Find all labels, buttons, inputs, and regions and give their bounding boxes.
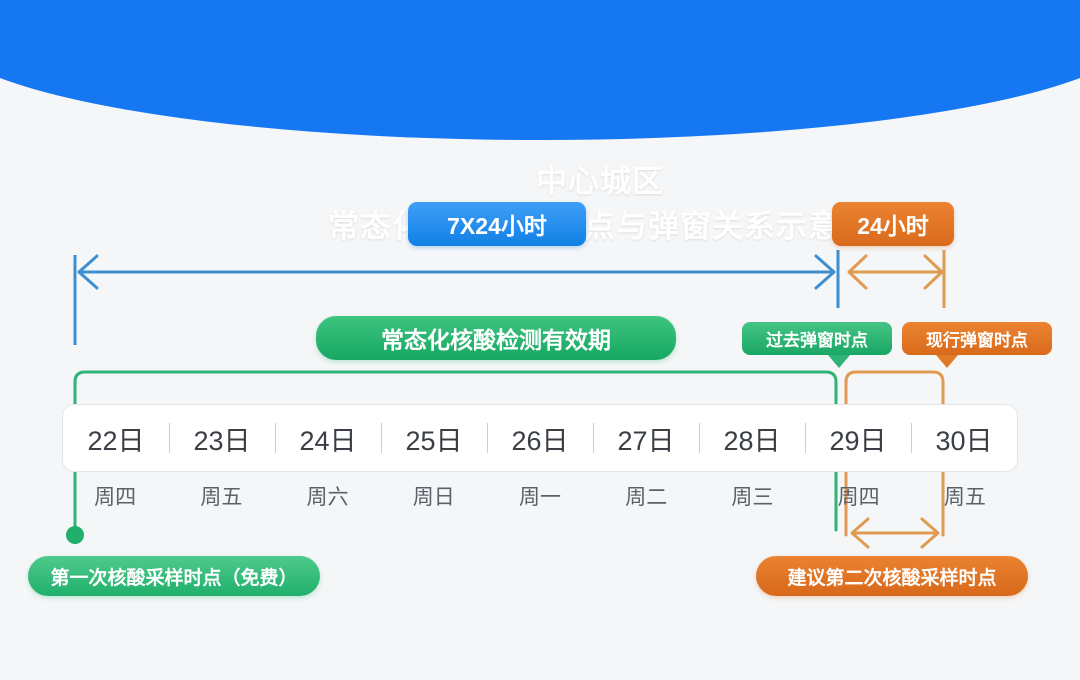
date-strip-card: 22日23日24日25日26日27日28日29日30日 [62,404,1018,472]
weekday-cell: 周二 [593,481,699,511]
badge-24-hours: 24小时 [832,202,954,246]
badge-past-popup-time: 过去弹窗时点 [742,322,892,355]
date-cell: 27日 [593,419,699,458]
orange-arrow-left [849,256,866,288]
blue-arrow-right [816,256,834,288]
date-cell: 24日 [275,419,381,458]
weekday-cell: 周五 [912,481,1018,511]
bottom-arrow-left [852,519,868,547]
bottom-arrow-right [922,519,938,547]
badge-7x24-hours: 7X24小时 [408,202,586,246]
page-title: 中心城区 [60,162,1080,202]
badge-first-sampling: 第一次核酸采样时点（免费） [28,556,320,596]
weekday-cell: 周四 [62,481,168,511]
past-popup-pointer-icon [828,355,850,368]
date-cell: 28日 [699,419,805,458]
date-cell: 29日 [805,419,911,458]
weekday-cell: 周日 [381,481,487,511]
badge-current-popup-time: 现行弹窗时点 [902,322,1052,355]
date-cell: 26日 [487,419,593,458]
date-cell: 22日 [63,419,169,458]
date-cell: 25日 [381,419,487,458]
blue-arrow-left [79,256,97,288]
date-cell: 23日 [169,419,275,458]
weekday-cell: 周三 [699,481,805,511]
weekday-cell: 周一 [487,481,593,511]
date-cell: 30日 [911,419,1017,458]
infographic-page: 中心城区 常态化核酸检测时点与弹窗关系示意图 7X24小时 24小时 常态化核酸… [0,0,1080,680]
weekday-row: 周四周五周六周日周一周二周三周四周五 [62,481,1018,511]
first-sampling-dot [66,526,84,544]
weekday-cell: 周六 [274,481,380,511]
badge-second-sampling: 建议第二次核酸采样时点 [756,556,1028,596]
orange-arrow-right [925,256,942,288]
badge-validity-period: 常态化核酸检测有效期 [316,316,676,360]
weekday-cell: 周五 [168,481,274,511]
weekday-cell: 周四 [806,481,912,511]
header-banner [0,0,1080,140]
current-popup-pointer-icon [936,355,958,368]
